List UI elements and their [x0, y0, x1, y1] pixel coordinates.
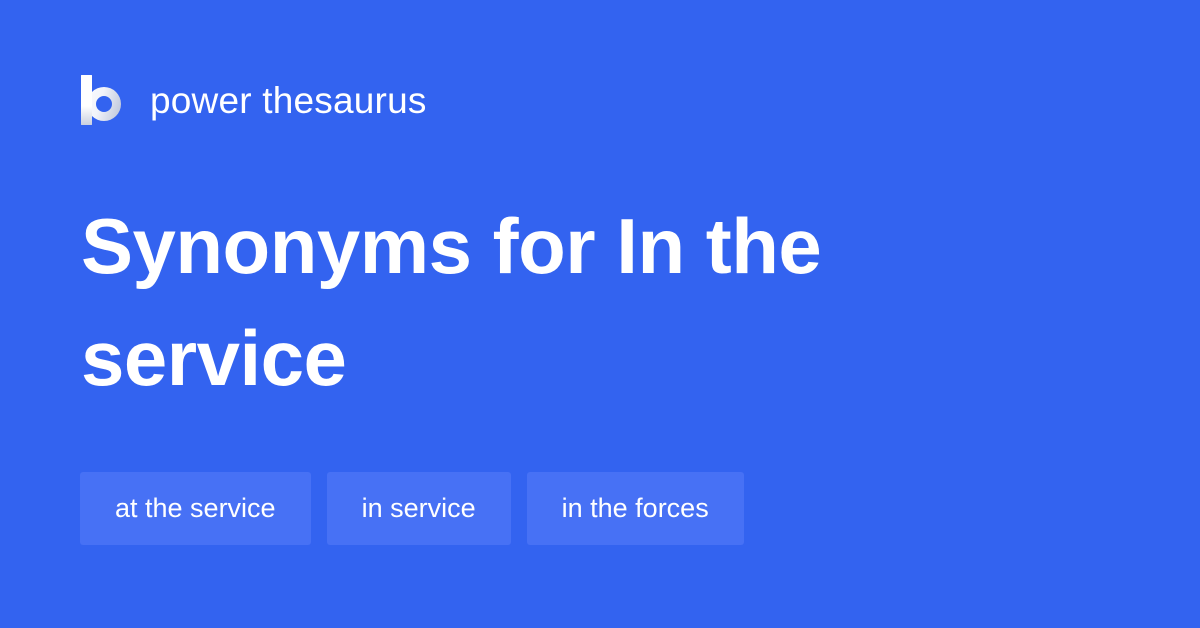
synonym-chip-list: at the service in service in the forces	[80, 472, 744, 545]
synonym-chip[interactable]: at the service	[80, 472, 311, 545]
power-thesaurus-b-logo-icon	[81, 75, 125, 125]
brand-name: power thesaurus	[150, 82, 427, 119]
page-title: Synonyms for In the service	[81, 190, 881, 414]
brand-lockup[interactable]: power thesaurus	[81, 72, 427, 128]
open-graph-card: power thesaurus Synonyms for In the serv…	[0, 0, 1200, 628]
synonym-chip[interactable]: in service	[327, 472, 511, 545]
synonym-chip[interactable]: in the forces	[527, 472, 744, 545]
